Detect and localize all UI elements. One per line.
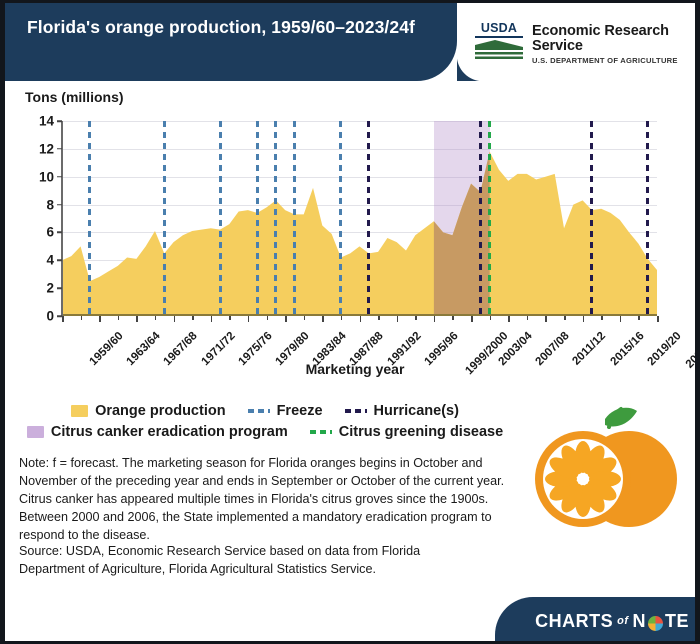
usda-logo: USDA Economic Research Service U.S. DEPA… [475,22,700,65]
chart-legend: Orange production Freeze Hurricane(s) Ci… [5,403,525,445]
y-tick-label: 2 [46,281,54,296]
freeze-event-line [219,121,222,316]
x-tick-minor [155,316,157,320]
department-name: U.S. DEPARTMENT OF AGRICULTURE [532,56,700,65]
note-word-post: TE [665,612,689,630]
freeze-event-line [88,121,91,316]
legend-label-greening: Citrus greening disease [339,424,503,440]
hurricane-event-line [646,121,649,316]
x-tick-minor [81,316,83,320]
x-tick-minor [638,316,640,320]
x-tick-mark [322,316,324,322]
chart-note: Note: f = forecast. The marketing season… [19,455,511,544]
hurricane-event-line [367,121,370,316]
y-tick-mark [57,287,62,289]
legend-item-production[interactable]: Orange production [71,403,226,419]
y-tick-mark [57,120,62,122]
card-inner: Florida's orange production, 1959/60–202… [5,3,695,641]
freeze-event-line [293,121,296,316]
legend-row-2: Citrus canker eradication program Citrus… [5,424,525,440]
agency-name: Economic Research Service [532,24,700,54]
x-tick-mark [285,316,287,322]
x-tick-minor [490,316,492,320]
usda-mark: USDA [475,22,523,65]
page-title: Florida's orange production, 1959/60–202… [27,16,437,38]
legend-item-greening[interactable]: Citrus greening disease [310,424,503,440]
legend-label-production: Orange production [95,403,226,419]
note-word-pre: N [632,612,646,630]
x-tick-minor [229,316,231,320]
orange-fruit-illustration [517,401,692,541]
header-navy-band [5,3,457,81]
x-tick-minor [341,316,343,320]
x-tick-minor [378,316,380,320]
x-tick-minor [267,316,269,320]
freeze-dash-icon [248,409,270,413]
y-tick-label: 10 [39,169,54,184]
y-tick-label: 6 [46,225,54,240]
pie-chart-o-icon [648,616,663,631]
y-tick-mark [57,176,62,178]
freeze-event-line [256,121,259,316]
x-tick-mark [620,316,622,322]
chart-card: Florida's orange production, 1959/60–202… [0,0,700,644]
hurricane-dash-icon [345,409,367,413]
x-tick-mark [545,316,547,322]
x-tick-minor [415,316,417,320]
x-tick-mark [174,316,176,322]
legend-item-hurricane[interactable]: Hurricane(s) [345,403,459,419]
x-tick-minor [192,316,194,320]
y-axis-title: Tons (millions) [25,89,124,105]
y-tick-label: 4 [46,253,54,268]
greening-event-line [488,121,491,316]
y-tick-label: 12 [39,141,54,156]
usda-agency-text: Economic Research Service U.S. DEPARTMEN… [532,22,700,65]
x-axis-title: Marketing year [5,361,700,377]
x-tick-minor [601,316,603,320]
footer: CHARTS of N TE [5,593,700,641]
y-tick-mark [57,204,62,206]
x-tick-minor [304,316,306,320]
chart-area: 02468101214 1959/601963/641967/681971/72… [5,113,700,383]
canker-swatch-icon [27,426,44,438]
y-tick-label: 14 [39,114,54,129]
production-swatch-icon [71,405,88,417]
x-tick-mark [62,316,64,322]
greening-dash-icon [310,430,332,434]
production-area-series [62,121,657,316]
freeze-event-line [163,121,166,316]
x-tick-mark [397,316,399,322]
x-tick-mark [248,316,250,322]
x-tick-mark [211,316,213,322]
plot-region: 02468101214 1959/601963/641967/681971/72… [62,121,657,316]
header: Florida's orange production, 1959/60–202… [5,3,700,81]
y-tick-mark [57,260,62,262]
x-tick-mark [508,316,510,322]
x-tick-mark [360,316,362,322]
y-tick-mark [57,148,62,150]
freeze-event-line [274,121,277,316]
of-word: of [615,616,630,627]
x-tick-minor [564,316,566,320]
hurricane-event-line [479,121,482,316]
y-tick-label: 0 [46,309,54,324]
x-tick-minor [118,316,120,320]
x-tick-minor [452,316,454,320]
x-tick-mark [434,316,436,322]
legend-label-freeze: Freeze [277,403,323,419]
x-tick-mark [471,316,473,322]
x-tick-mark [657,316,659,322]
charts-word: CHARTS [535,612,613,630]
chart-source: Source: USDA, Economic Research Service … [19,543,489,579]
charts-of-note-logo: CHARTS of N TE [535,612,689,630]
x-tick-mark [136,316,138,322]
y-tick-mark [57,232,62,234]
legend-label-canker: Citrus canker eradication program [51,424,288,440]
legend-row-1: Orange production Freeze Hurricane(s) [5,403,525,419]
usda-landscape-icon [475,38,523,60]
legend-label-hurricane: Hurricane(s) [374,403,459,419]
usda-wordmark: USDA [475,22,523,38]
legend-item-canker[interactable]: Citrus canker eradication program [27,424,288,440]
x-tick-minor [527,316,529,320]
hurricane-event-line [590,121,593,316]
x-tick-mark [99,316,101,322]
x-tick-mark [583,316,585,322]
freeze-event-line [339,121,342,316]
legend-item-freeze[interactable]: Freeze [248,403,323,419]
y-tick-label: 8 [46,197,54,212]
